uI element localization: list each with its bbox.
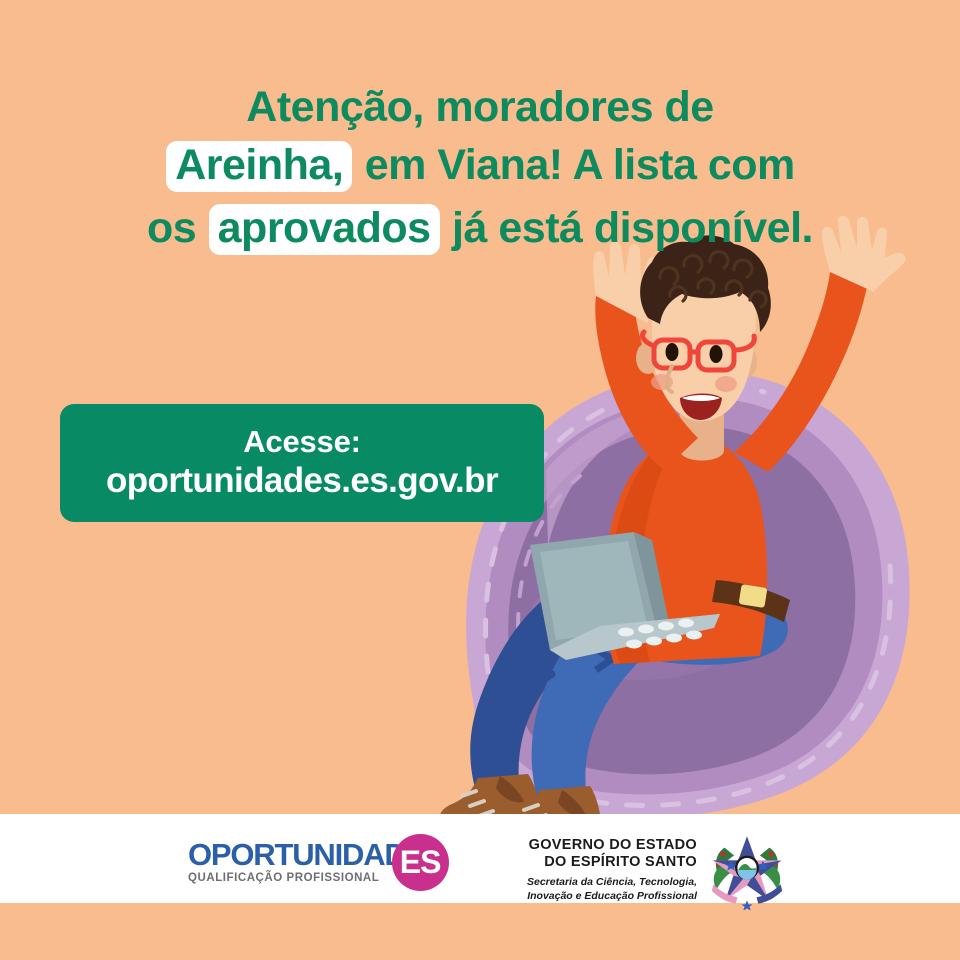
headline-line-1: Atenção, moradores de: [0, 86, 960, 129]
government-line-1: GOVERNO DO ESTADO: [529, 837, 697, 854]
oportunidades-logo[interactable]: OPORTUNIDAD QUALIFICAÇÃO PROFISSIONAL ES: [188, 833, 449, 891]
footer-bottom-strip: [0, 903, 960, 960]
government-logo-text: GOVERNO DO ESTADO DO ESPÍRITO SANTO Secr…: [527, 837, 697, 904]
espirito-santo-coat-of-arms-icon: [707, 830, 787, 910]
oportunidades-logo-text: OPORTUNIDAD QUALIFICAÇÃO PROFISSIONAL: [188, 839, 406, 885]
eye-right: [710, 345, 723, 363]
belt-buckle: [739, 584, 768, 608]
footer-white-band: [0, 814, 960, 903]
cta-url: oportunidades.es.gov.br: [106, 460, 498, 502]
oportunidades-logo-wordmark: OPORTUNIDAD: [188, 839, 406, 870]
cta-label: Acesse:: [243, 424, 361, 460]
headline-highlight-areinha: Areinha,: [166, 141, 352, 192]
headline-highlight-aprovados: aprovados: [209, 204, 440, 255]
government-subtitle-line-1: Secretaria da Ciência, Tecnologia,: [527, 876, 697, 890]
oportunidades-logo-es-circle: ES: [392, 834, 449, 891]
government-line-2: DO ESPÍRITO SANTO: [544, 854, 697, 871]
government-subtitle-line-2: Inovação e Educação Profissional: [527, 890, 697, 904]
government-logo[interactable]: GOVERNO DO ESTADO DO ESPÍRITO SANTO Secr…: [527, 830, 787, 910]
headline-line-3-pre: os: [147, 204, 208, 252]
cheek-right: [715, 376, 737, 392]
headline-line-3-rest: já está disponível.: [441, 204, 813, 252]
headline-line-3: os aprovados já está disponível.: [0, 204, 960, 255]
eye-left: [666, 343, 679, 361]
headline: Atenção, moradores de Areinha, em Viana!…: [0, 86, 960, 267]
headline-line-2: Areinha, em Viana! A lista com: [0, 141, 960, 192]
oportunidades-logo-tagline: QUALIFICAÇÃO PROFISSIONAL: [188, 873, 379, 885]
headline-line-2-rest: em Viana! A lista com: [353, 141, 794, 189]
cta-access-button[interactable]: Acesse: oportunidades.es.gov.br: [60, 404, 544, 522]
promotional-poster: Atenção, moradores de Areinha, em Viana!…: [0, 0, 960, 960]
